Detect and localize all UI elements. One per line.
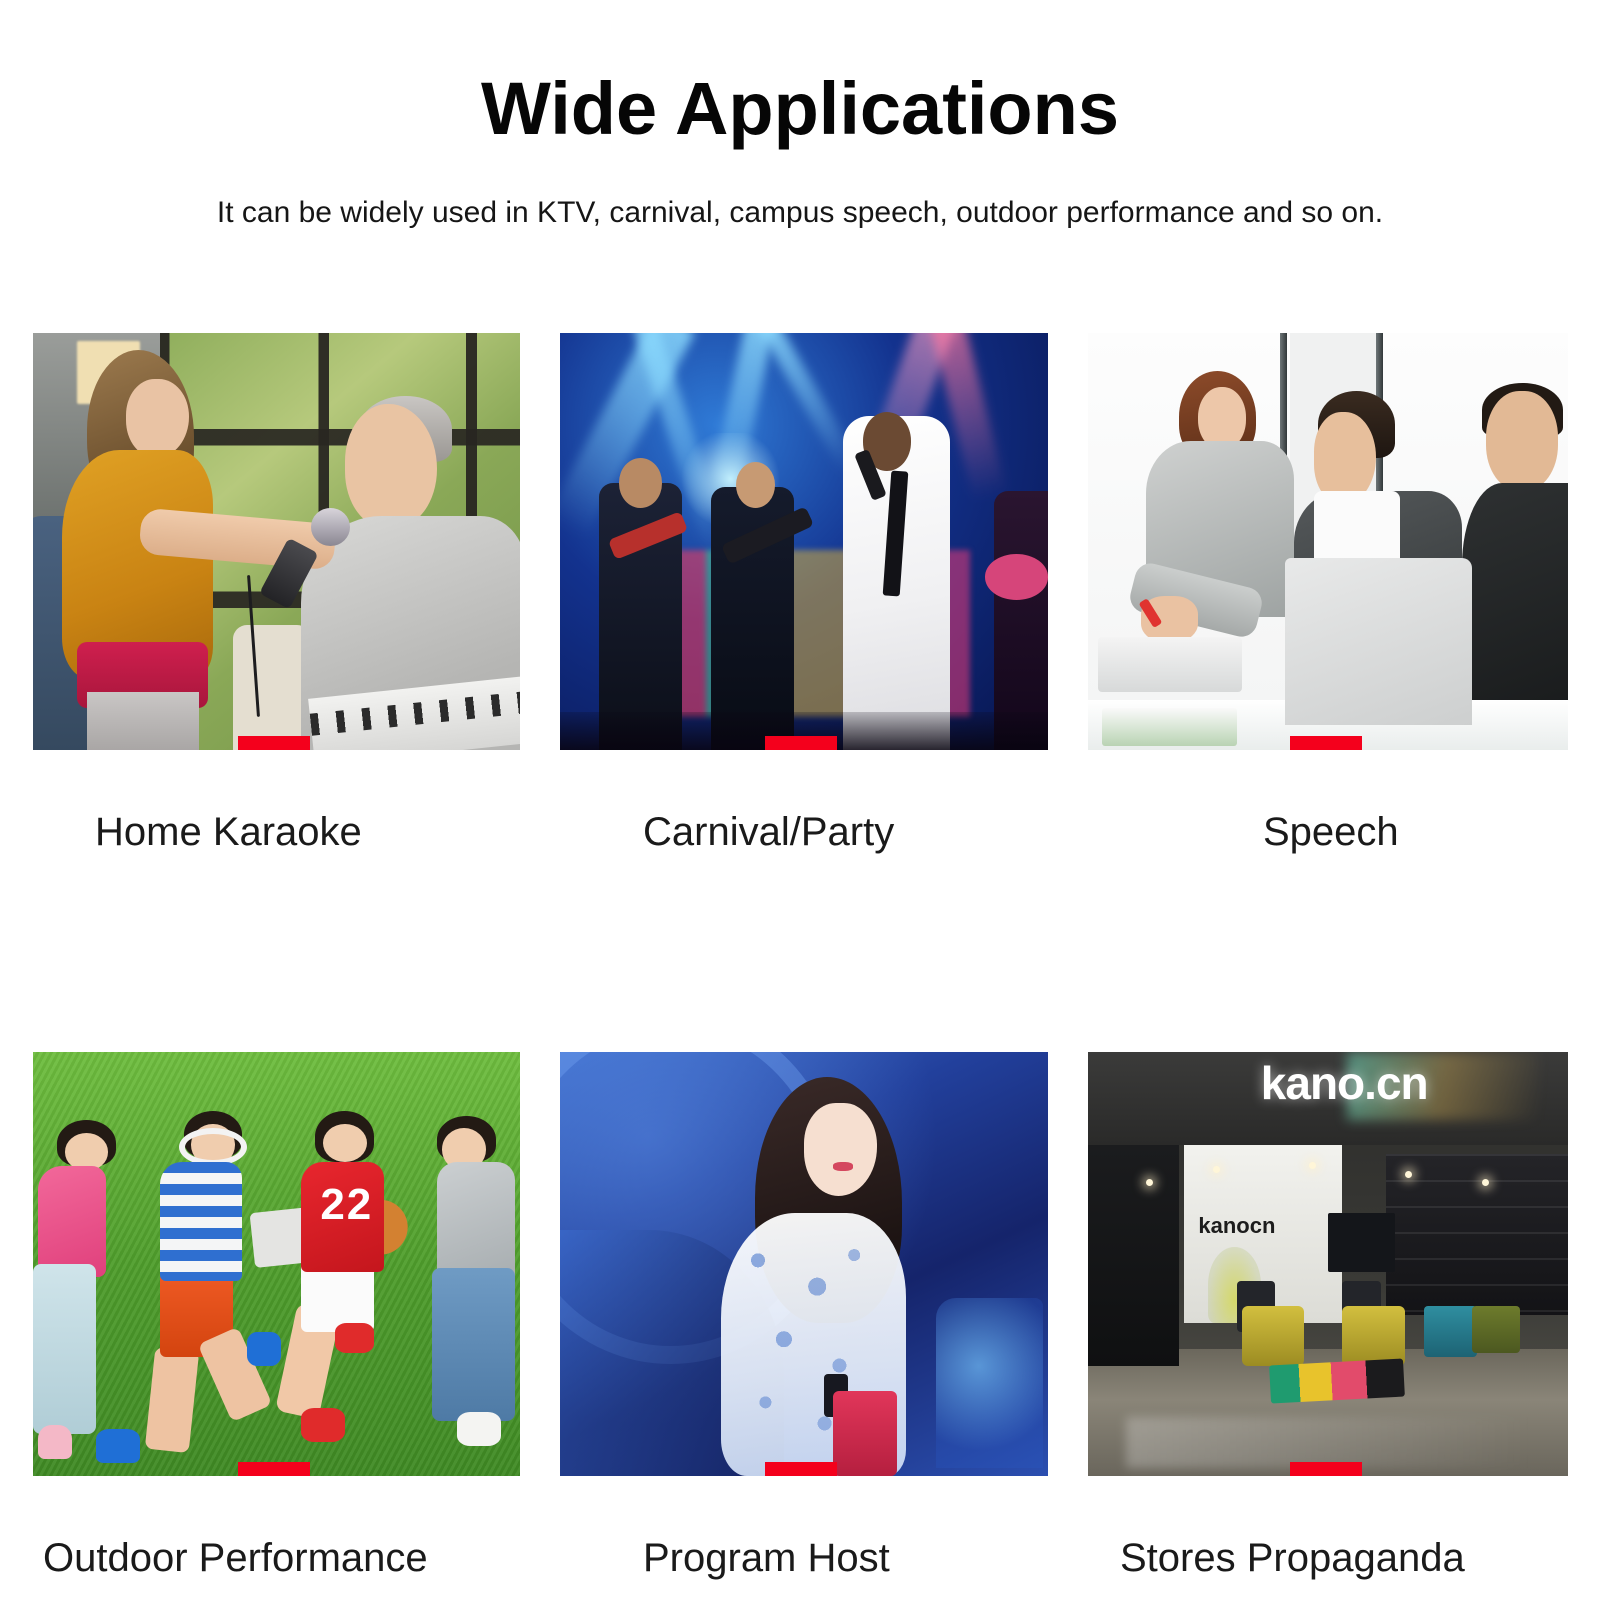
girl-red-face — [323, 1124, 367, 1162]
caption-stores-propaganda: Stores Propaganda — [1088, 1476, 1568, 1578]
grid-row: Home Karaoke — [33, 333, 1568, 852]
photo-carnival-party[interactable] — [560, 333, 1048, 750]
application-card-stores-propaganda[interactable]: kanocn kano.cn — [1088, 1052, 1568, 1578]
wall-monitor — [1328, 1213, 1395, 1272]
scene-outdoor-performance: 22 — [33, 1052, 520, 1476]
guitarist-left-head — [619, 458, 663, 508]
guitarist-center-head — [736, 462, 775, 508]
application-card-home-karaoke[interactable]: Home Karaoke — [33, 333, 520, 852]
interior-brand-sign: kanocn — [1198, 1213, 1275, 1239]
caption-carnival-party: Carnival/Party — [560, 750, 1048, 852]
pink-guitar — [985, 554, 1048, 600]
headphones-icon — [179, 1128, 247, 1166]
yellow-armchair — [1342, 1306, 1404, 1365]
man-face — [1314, 412, 1376, 504]
grid-row: 22 Outdoor Performance — [33, 1052, 1568, 1578]
red-prop — [833, 1391, 896, 1476]
photo-outdoor-performance[interactable]: 22 — [33, 1052, 520, 1476]
caption-speech: Speech — [1088, 750, 1568, 852]
girl-red-shoe — [301, 1408, 345, 1442]
photo-stores-propaganda[interactable]: kanocn kano.cn — [1088, 1052, 1568, 1476]
second-man-face — [1486, 391, 1558, 491]
brand-name-text: kano — [1261, 1057, 1364, 1109]
ceiling-spotlight — [1309, 1162, 1316, 1169]
chair — [233, 625, 311, 750]
boy-grey-shirt — [437, 1162, 515, 1281]
photo-speech[interactable] — [1088, 333, 1568, 750]
laptop-left — [1098, 637, 1242, 691]
guitarist-right — [994, 491, 1048, 750]
red-marker-bar — [1290, 736, 1362, 750]
boy-striped-shirt — [160, 1162, 243, 1281]
photo-program-host[interactable] — [560, 1052, 1048, 1476]
girl-pink-face — [65, 1133, 109, 1171]
girl-pink-shoe — [38, 1425, 72, 1459]
laptop-center — [1285, 558, 1472, 725]
woman-face — [1198, 387, 1246, 450]
girl-red-shoe — [335, 1323, 374, 1353]
floor-reflection — [1126, 1417, 1529, 1468]
documents-stack — [1102, 708, 1236, 746]
man-face — [345, 404, 438, 529]
caption-home-karaoke: Home Karaoke — [33, 750, 520, 852]
page-title: Wide Applications — [0, 72, 1600, 146]
page-header: Wide Applications It can be widely used … — [0, 0, 1600, 228]
ceiling-spotlight — [1405, 1171, 1412, 1178]
woman-grey-pants — [87, 692, 199, 750]
red-marker-bar — [765, 1462, 837, 1476]
red-marker-bar — [765, 736, 837, 750]
display-shelving — [1386, 1154, 1568, 1315]
jersey-number: 22 — [320, 1183, 374, 1234]
caption-outdoor-performance: Outdoor Performance — [33, 1476, 520, 1578]
girl-pink-shirt — [38, 1166, 106, 1276]
olive-ottoman — [1472, 1306, 1520, 1353]
photo-home-karaoke[interactable] — [33, 333, 520, 750]
stage-logo-panel — [936, 1298, 1043, 1468]
left-dark-panel — [1088, 1145, 1179, 1365]
scene-program-host — [560, 1052, 1048, 1476]
teal-ottoman — [1424, 1306, 1477, 1357]
red-marker-bar — [238, 1462, 310, 1476]
ceiling-spotlight — [1482, 1179, 1489, 1186]
scene-home-karaoke — [33, 333, 520, 750]
brand-domain-text: .cn — [1364, 1057, 1427, 1109]
girl-light-jeans — [33, 1264, 96, 1434]
application-card-outdoor-performance[interactable]: 22 Outdoor Performance — [33, 1052, 520, 1578]
ceiling-spotlight — [1146, 1179, 1153, 1186]
microphone-head — [311, 508, 350, 546]
application-card-program-host[interactable]: Program Host — [560, 1052, 1048, 1578]
interior-brand-text: kanocn — [1198, 1213, 1275, 1238]
application-card-speech[interactable]: Speech — [1088, 333, 1568, 852]
red-marker-bar — [238, 736, 310, 750]
boy-blue-shoe — [247, 1332, 281, 1366]
red-marker-bar — [1290, 1462, 1362, 1476]
colourful-rug — [1269, 1358, 1405, 1403]
scene-stores-propaganda: kanocn kano.cn — [1088, 1052, 1568, 1476]
boy-blue-shoe — [96, 1429, 140, 1463]
application-card-carnival-party[interactable]: Carnival/Party — [560, 333, 1048, 852]
boy-leg — [145, 1347, 199, 1453]
yellow-armchair — [1242, 1306, 1304, 1365]
scene-carnival-party — [560, 333, 1048, 750]
applications-grid: Home Karaoke — [33, 333, 1568, 1578]
caption-program-host: Program Host — [560, 1476, 1048, 1578]
page-subtitle: It can be widely used in KTV, carnival, … — [0, 146, 1600, 228]
boy-blue-jeans — [432, 1268, 515, 1421]
scene-speech — [1088, 333, 1568, 750]
host-lips — [833, 1162, 853, 1170]
boy-white-shoe — [457, 1412, 501, 1446]
storefront-brand-sign: kano.cn — [1261, 1056, 1428, 1110]
